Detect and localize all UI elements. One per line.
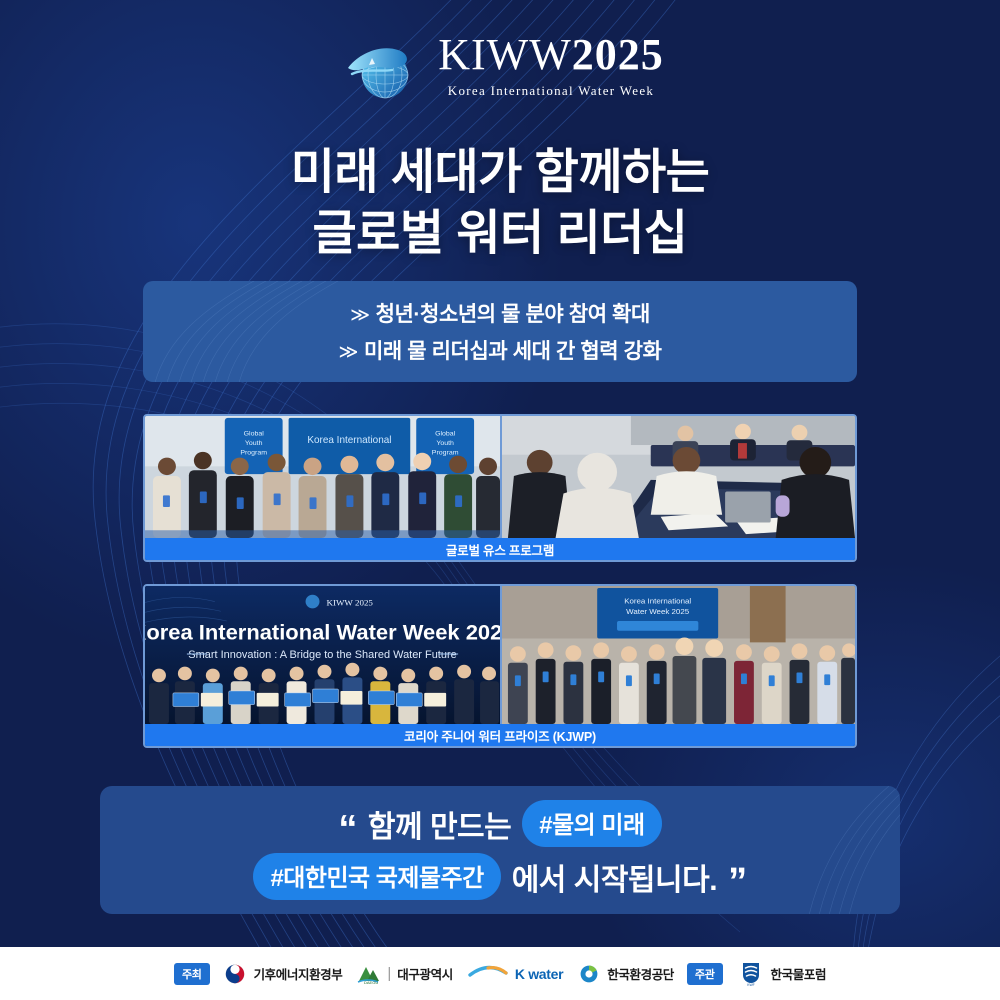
bullet-marker-icon: ≫ [350,305,370,326]
quote-line-2: #대한민국 국제물주간 에서 시작됩니다. ” [253,853,746,900]
svg-text:KWF: KWF [747,983,755,987]
logo-title: KIWW2025 [438,33,664,77]
svg-text:Global: Global [435,430,456,437]
key-point-1: ≫청년·청소년의 물 분야 참여 확대 [350,298,650,328]
org-kwf-label: 한국물포럼 [771,964,827,983]
quote-close-mark: ” [728,863,747,901]
logo-title-year: 2025 [572,30,664,79]
org-daegu: DAEGU | 대구광역시 [355,963,452,985]
svg-text:Water Week 2025: Water Week 2025 [626,607,690,616]
org-kwater: K water [466,961,563,987]
svg-text:Program: Program [432,450,459,457]
sponsor-footer: 주최 기후에너지환경부 DAEGU | 대구광역시 [0,947,1000,1000]
footer-divider: | [387,965,391,982]
key-point-2: ≫미래 물 리더십과 세대 간 협력 강화 [339,335,662,365]
org-ministry-label: 기후에너지환경부 [254,964,343,983]
headline-line-2: 글로벌 워터 리더십 [0,203,1000,264]
svg-text:Korea International: Korea International [307,435,391,446]
quote-line-1: “ 함께 만드는 #물의 미래 [338,800,661,847]
key-points-panel: ≫청년·청소년의 물 분야 참여 확대 ≫미래 물 리더십과 세대 간 협력 강… [143,281,857,382]
key-point-1-label: 청년·청소년의 물 분야 참여 확대 [376,303,650,326]
svg-text:Korea International Water Week: Korea International Water Week 2025 [145,620,500,645]
headline-line-1: 미래 세대가 함께하는 [0,142,1000,203]
keco-ring-icon [576,963,602,985]
kiww-logo: KIWW2025 Korea International Water Week [0,28,1000,104]
photo-kjwp-ceremony: KIWW 2025 Korea International Water Week… [145,586,500,724]
svg-text:DAEGU: DAEGU [364,980,378,985]
kiww-globe-water-icon [336,28,428,104]
org-kwf: KWF 한국물포럼 [736,961,827,987]
page-title: 미래 세대가 함께하는 글로벌 워터 리더십 [0,142,1000,265]
org-kwater-label: K water [515,966,563,982]
panel-curve-lines [143,281,857,382]
photo-caption-2: 코리아 주니어 워터 프라이즈 (KJWP) [145,724,855,746]
svg-text:Global: Global [244,430,265,437]
quote-open-mark: “ [338,810,357,848]
photo-block-global-youth: Global Youth Program Korea International… [143,414,857,562]
key-point-2-label: 미래 물 리더십과 세대 간 협력 강화 [364,340,662,363]
host-badge: 주최 [174,963,210,985]
photo-kjwp-students: Korea International Water Week 2025 [500,586,855,724]
quote-line-1-text: 함께 만드는 [368,802,511,846]
org-keco: 한국환경공단 [576,963,674,985]
svg-text:Youth: Youth [436,440,454,447]
korea-water-forum-shield-icon: KWF [736,961,766,987]
photo-global-youth-group: Global Youth Program Korea International… [145,416,500,538]
svg-text:Korea International: Korea International [624,597,691,606]
organizer-badge: 주관 [687,963,723,985]
quote-line-2-text: 에서 시작됩니다. [512,855,717,899]
org-daegu-label: 대구광역시 [397,964,453,983]
kiww-promo-card: KIWW2025 Korea International Water Week … [0,0,1000,1000]
photo-block-kjwp: KIWW 2025 Korea International Water Week… [143,584,857,748]
svg-text:Program: Program [240,450,267,457]
daegu-mountain-icon: DAEGU [355,963,381,985]
org-ministry: 기후에너지환경부 [223,963,343,985]
logo-subtitle: Korea International Water Week [448,83,654,99]
korea-government-taegeuk-icon [223,963,249,985]
svg-text:Youth: Youth [245,440,263,447]
bullet-marker-icon: ≫ [339,342,359,363]
org-keco-label: 한국환경공단 [607,964,674,983]
logo-title-main: KIWW [438,30,572,79]
photo-caption-1: 글로벌 유스 프로그램 [145,538,855,560]
closing-quote-panel: “ 함께 만드는 #물의 미래 #대한민국 국제물주간 에서 시작됩니다. ” [100,786,900,914]
svg-text:KIWW 2025: KIWW 2025 [326,598,373,608]
photo-youth-workshop [500,416,855,538]
svg-text:Smart Innovation : A Bridge to: Smart Innovation : A Bridge to the Share… [188,649,456,661]
hashtag-pill-water-future[interactable]: #물의 미래 [522,800,661,847]
hashtag-pill-kiww[interactable]: #대한민국 국제물주간 [253,853,500,900]
k-water-arc-icon [466,961,510,987]
